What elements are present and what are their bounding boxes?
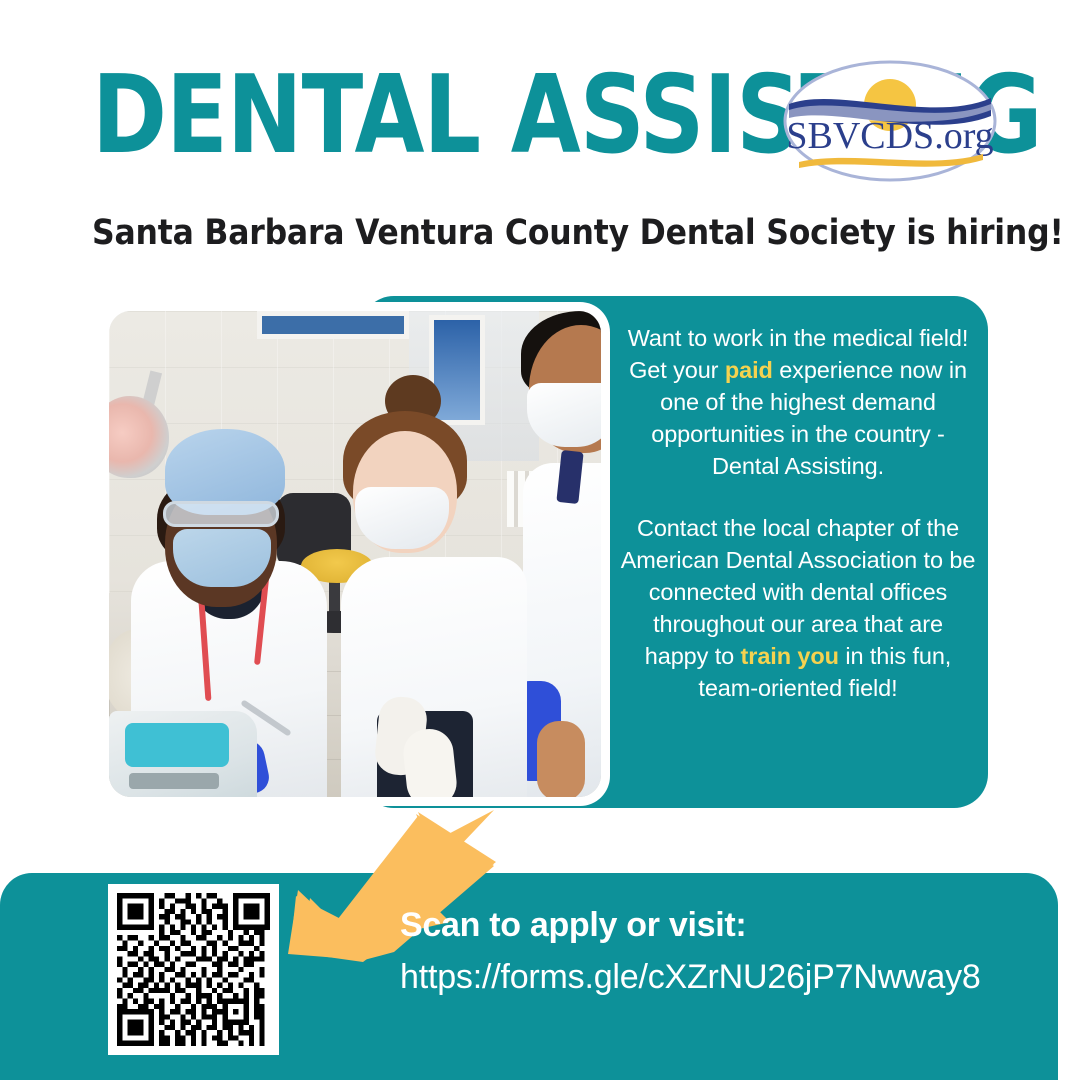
photo-person-3-hand (537, 721, 585, 797)
photo-person-1-mask (173, 529, 271, 587)
photo-equipment-tray (125, 723, 229, 767)
poster-canvas: DENTAL ASSISTING SBVCDS.org Santa Barbar… (0, 0, 1080, 1080)
paragraph-1-highlight: paid (725, 357, 773, 383)
clinic-photo-frame (100, 302, 610, 806)
page-subtitle: Santa Barbara Ventura County Dental Soci… (92, 211, 992, 255)
down-left-arrow-icon (268, 802, 496, 972)
paragraph-spacer (620, 482, 976, 512)
page-title: DENTAL ASSISTING (92, 62, 734, 172)
clinic-photo (109, 311, 601, 797)
photo-person-1-goggles (163, 501, 279, 527)
info-paragraph-2: Contact the local chapter of the America… (620, 512, 976, 704)
photo-xray-viewer (257, 311, 409, 339)
logo-text: SBVCDS.org (786, 115, 993, 157)
info-paragraph-1: Want to work in the medical field! Get y… (620, 322, 976, 482)
scan-call-to-action: Scan to apply or visit: (400, 906, 746, 945)
application-url[interactable]: https://forms.gle/cXZrNU26jP7Nwway8 (400, 958, 981, 997)
info-panel-text: Want to work in the medical field! Get y… (620, 322, 976, 704)
sbvcds-logo[interactable]: SBVCDS.org (781, 58, 999, 184)
qr-code[interactable] (108, 884, 279, 1055)
photo-equipment-panel (129, 773, 219, 789)
paragraph-2-highlight: train you (741, 643, 839, 669)
